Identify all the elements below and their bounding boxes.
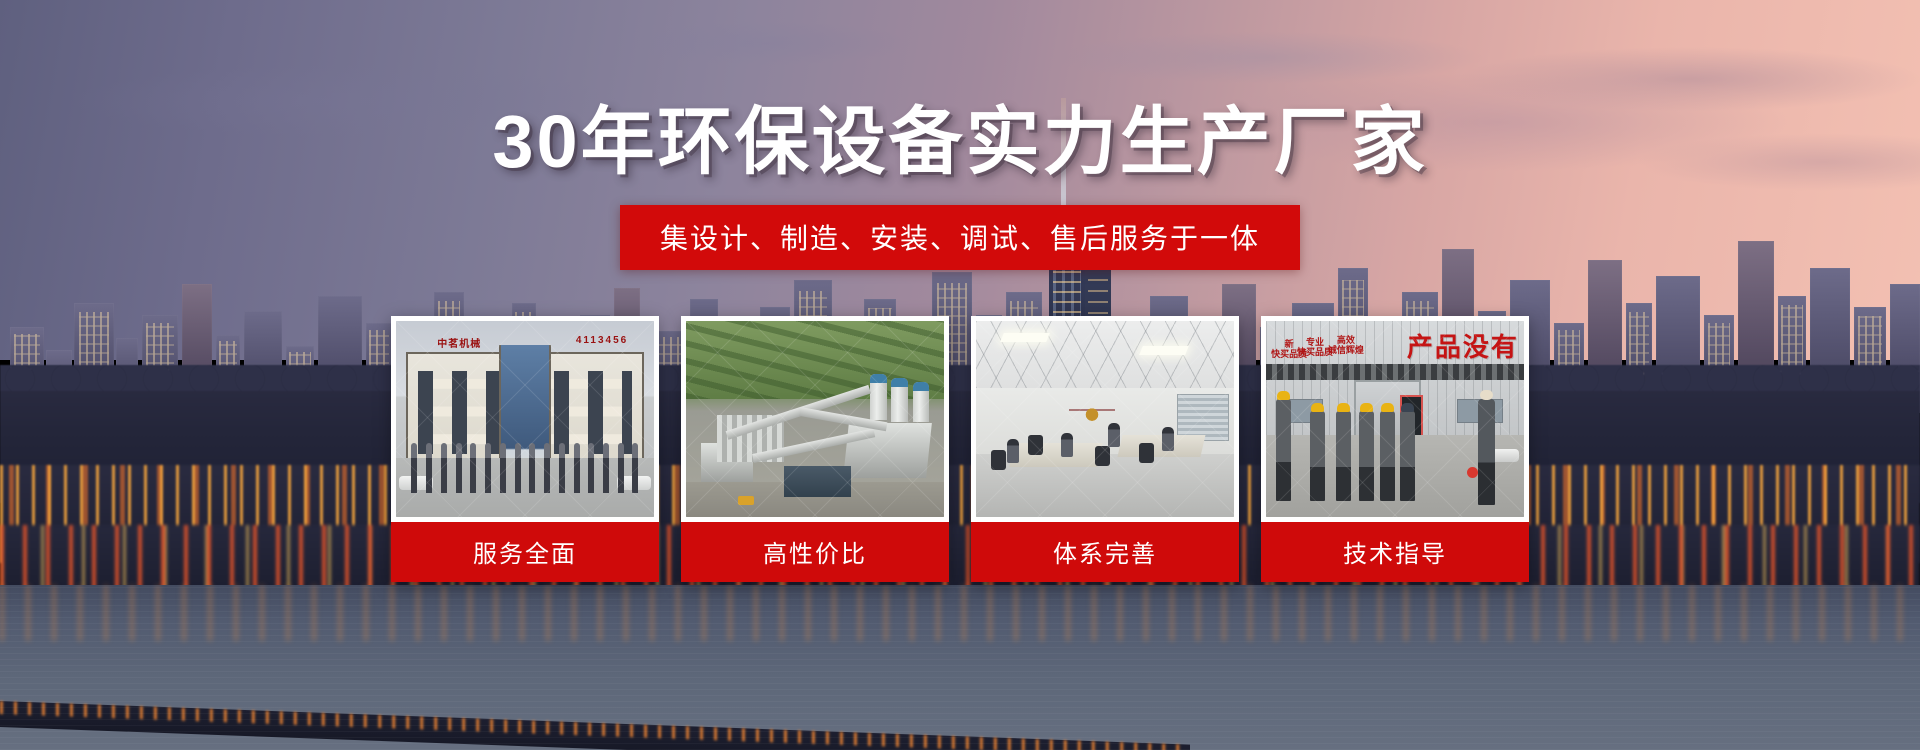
office-worker [1108, 423, 1120, 447]
card-thumbnail-office-building: 中茗机械 4113456 [396, 321, 654, 517]
office-ceiling [976, 321, 1234, 388]
worker-hardhat [1359, 411, 1374, 501]
office-chair [991, 450, 1006, 470]
feature-card[interactable]: 中茗机械 4113456 服务全面 [391, 316, 659, 582]
hero-banner: 30年环保设备实力生产厂家 集设计、制造、安装、调试、售后服务于一体 中茗机械 … [0, 0, 1920, 750]
company-sign-text: 中茗机械 [437, 335, 481, 350]
office-worker [1061, 433, 1073, 457]
company-phone-text: 4113456 [576, 335, 628, 346]
office-chair [1139, 443, 1154, 463]
card-caption: 技术指导 [1261, 522, 1529, 582]
subtitle-badge: 集设计、制造、安装、调试、售后服务于一体 [620, 205, 1300, 270]
plant-canopy [784, 466, 851, 497]
workshop-louvers [1266, 364, 1524, 380]
supervisor [1478, 399, 1495, 505]
window-blinds [1177, 394, 1229, 441]
feature-card[interactable]: 体系完善 [971, 316, 1239, 582]
office-worker [1162, 427, 1174, 451]
office-desk [1009, 443, 1102, 467]
office-chair [1028, 435, 1043, 455]
page-title: 30年环保设备实力生产厂家 [492, 105, 1427, 179]
storage-silo [913, 382, 929, 422]
card-caption: 体系完善 [971, 522, 1239, 582]
worker-hardhat [1336, 411, 1351, 501]
office-chair [1095, 446, 1110, 466]
banner-content: 30年环保设备实力生产厂家 集设计、制造、安装、调试、售后服务于一体 中茗机械 … [0, 0, 1920, 750]
feature-card[interactable]: 高性价比 [681, 316, 949, 582]
factory-slogan-main: 产品没有 [1407, 327, 1519, 364]
worker-hardhat [1276, 399, 1291, 501]
factory-slogan-small: 高效诚信辉煌 [1328, 335, 1364, 356]
ceiling-light [1139, 346, 1189, 355]
storage-silo [870, 374, 887, 420]
office-worker [1007, 439, 1019, 463]
card-thumbnail-office-interior [976, 321, 1234, 517]
feature-card-list: 中茗机械 4113456 服务全面 [391, 316, 1529, 582]
worker-hardhat [1400, 411, 1415, 501]
storage-silo [891, 378, 908, 422]
wall-logo [1069, 399, 1115, 425]
ceiling-light [1000, 333, 1050, 342]
card-caption: 服务全面 [391, 522, 659, 582]
card-caption: 高性价比 [681, 522, 949, 582]
card-thumbnail-plant-aerial [686, 321, 944, 517]
red-helmet [1467, 467, 1478, 478]
excavator [738, 496, 754, 505]
card-thumbnail-workshop: 产品没有 新快买品质 专业快买品质 高效诚信辉煌 [1266, 321, 1524, 517]
feature-card[interactable]: 产品没有 新快买品质 专业快买品质 高效诚信辉煌 [1261, 316, 1529, 582]
worker-hardhat [1380, 411, 1395, 501]
staff-row [411, 443, 638, 494]
worker-hardhat [1310, 411, 1325, 501]
